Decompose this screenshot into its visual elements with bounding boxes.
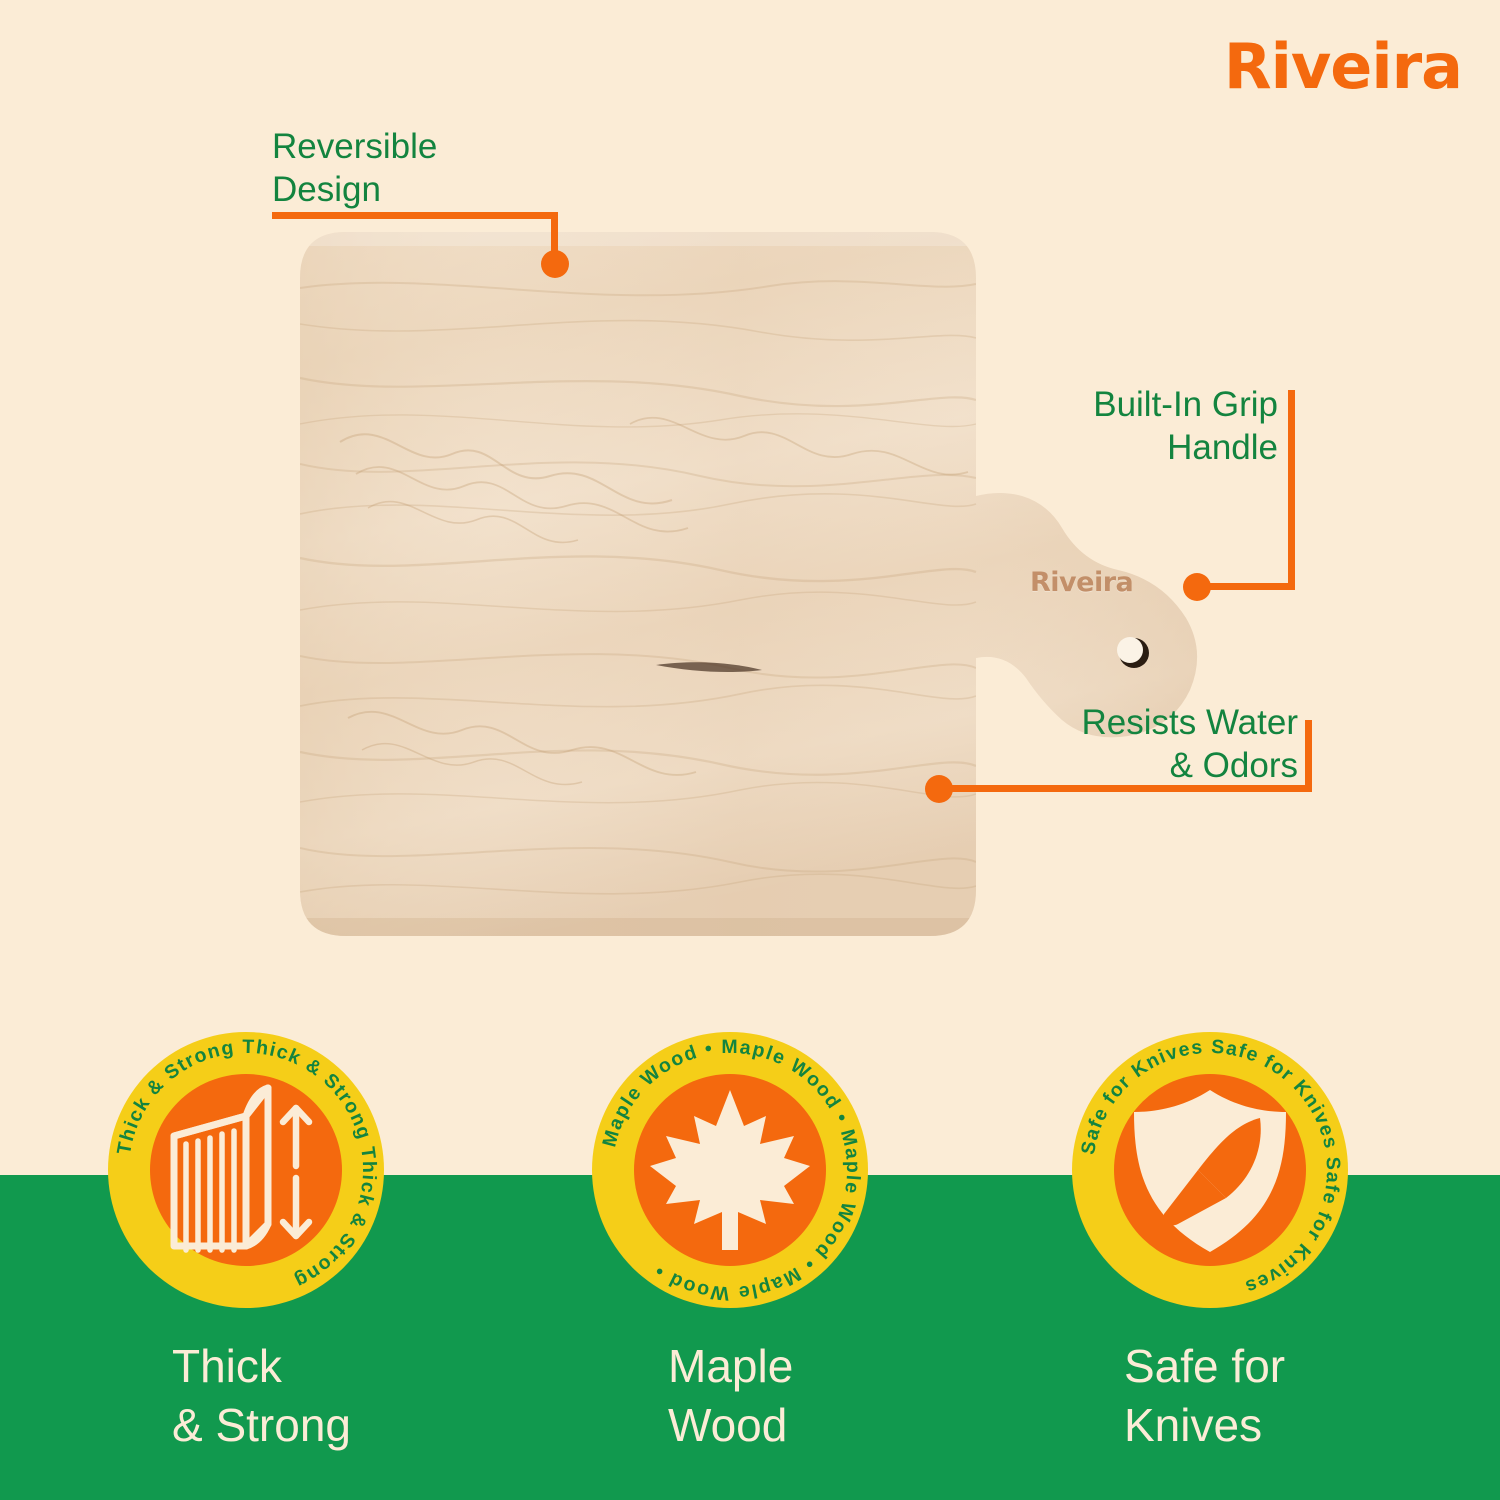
infographic-canvas: Riveira: [0, 0, 1500, 1500]
leader-line-handle-horizontal: [1200, 583, 1295, 590]
shield-knife-icon: [1114, 1074, 1306, 1266]
callout-label-reversible-design: Reversible Design: [272, 126, 437, 211]
brand-logo: Riveira: [1224, 30, 1462, 103]
feature-badge-row: Thick & Strong Thick & Strong Thick & St…: [0, 1032, 1500, 1322]
engraved-brand-logo: Riveira: [1030, 567, 1133, 598]
badge-caption-safe-for-knives: Safe for Knives: [1124, 1337, 1285, 1455]
callout-label-water-odors: Resists Water & Odors: [1000, 702, 1298, 787]
leader-line-water-horizontal: [941, 785, 1312, 792]
maple-leaf-icon: [634, 1074, 826, 1266]
leader-line-handle-vertical: [1288, 390, 1295, 586]
leader-line-reversible-horizontal: [272, 212, 558, 219]
board-thickness-icon: [150, 1074, 342, 1266]
leader-dot-water: [925, 775, 953, 803]
badge-safe-for-knives: Safe for Knives Safe for Knives Safe for…: [1072, 1032, 1348, 1308]
leader-dot-reversible: [541, 250, 569, 278]
badge-maple-wood: Maple Wood • Maple Wood • Maple Wood • M…: [592, 1032, 868, 1308]
leader-line-water-vertical: [1305, 720, 1312, 792]
badge-caption-maple-wood: Maple Wood: [668, 1337, 793, 1455]
badge-caption-thick-strong: Thick & Strong: [172, 1337, 351, 1455]
leader-dot-handle: [1183, 573, 1211, 601]
badge-thick-strong: Thick & Strong Thick & Strong Thick & St…: [108, 1032, 384, 1308]
callout-label-grip-handle: Built-In Grip Handle: [1020, 384, 1278, 469]
